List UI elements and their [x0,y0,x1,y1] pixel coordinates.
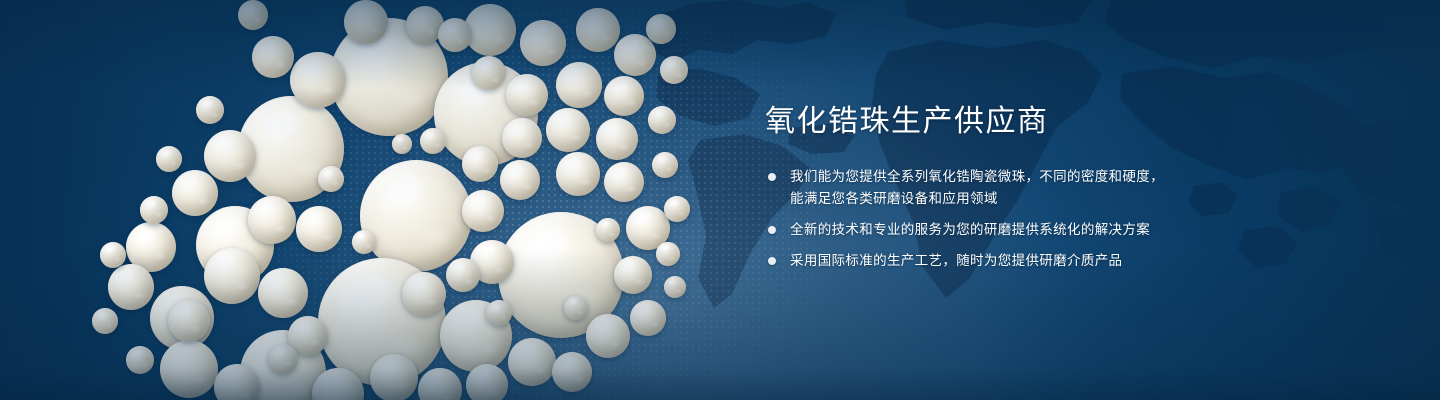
list-item: 采用国际标准的生产工艺，随时为您提供研磨介质产品 [765,250,1235,272]
list-item: 我们能为您提供全系列氧化锆陶瓷微珠，不同的密度和硬度， 能满足您各类研磨设备和应… [765,166,1235,210]
list-item-line: 我们能为您提供全系列氧化锆陶瓷微珠，不同的密度和硬度， [790,166,1235,188]
list-item-line: 采用国际标准的生产工艺，随时为您提供研磨介质产品 [790,250,1235,272]
bullet-dot-icon [768,173,776,181]
page-title: 氧化锆珠生产供应商 [765,104,1235,140]
list-item-line: 能满足您各类研磨设备和应用领域 [790,188,1235,210]
feature-list: 我们能为您提供全系列氧化锆陶瓷微珠，不同的密度和硬度， 能满足您各类研磨设备和应… [765,166,1235,272]
bullet-dot-icon [768,226,776,234]
hero-banner: 氧化锆珠生产供应商 我们能为您提供全系列氧化锆陶瓷微珠，不同的密度和硬度， 能满… [0,0,1440,400]
list-item: 全新的技术和专业的服务为您的研磨提供系统化的解决方案 [765,219,1235,241]
list-item-line: 全新的技术和专业的服务为您的研磨提供系统化的解决方案 [790,219,1235,241]
banner-text-block: 氧化锆珠生产供应商 我们能为您提供全系列氧化锆陶瓷微珠，不同的密度和硬度， 能满… [765,104,1235,272]
bullet-dot-icon [768,257,776,265]
